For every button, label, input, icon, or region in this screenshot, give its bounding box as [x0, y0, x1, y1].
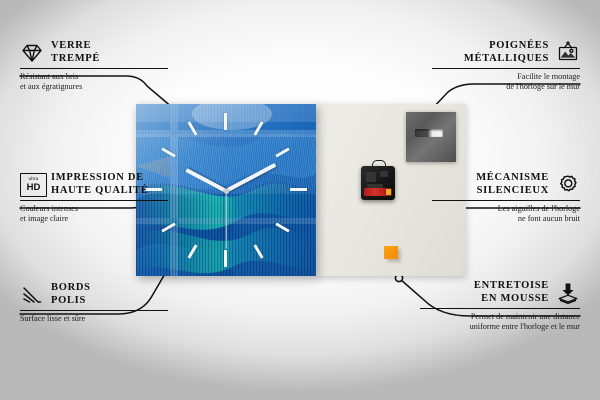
feature-subtitle: Facilite le montage de l'horloge sur le …	[432, 72, 580, 92]
clock-mechanism	[361, 166, 395, 200]
feature-subtitle: Les aiguilles de l'horloge ne font aucun…	[432, 204, 580, 224]
battery-plus-terminal	[386, 189, 391, 195]
clock-tick	[290, 188, 307, 191]
hanger-slot	[415, 129, 443, 137]
feature-divider	[432, 68, 580, 69]
feature-header: ultra HD IMPRESSION DE HAUTE QUALITÉ	[20, 172, 168, 197]
feature-subtitle: Permet de maintenir une distance uniform…	[420, 312, 580, 332]
feature-divider	[432, 200, 580, 201]
feature-title: VERRE TREMPÉ	[51, 40, 100, 65]
foam-spacer-icon	[556, 281, 580, 305]
feature-header: POIGNÉES MÉTALLIQUES	[432, 40, 580, 65]
feature-header: ENTRETOISE EN MOUSSE	[420, 280, 580, 305]
feature-header: MÉCANISME SILENCIEUX	[432, 172, 580, 197]
mechanism-detail	[380, 171, 388, 177]
feature-poignees-metalliques: POIGNÉES MÉTALLIQUES Facilite le montage…	[432, 40, 580, 92]
polished-edges-icon	[20, 283, 44, 307]
gear-icon	[556, 173, 580, 197]
clock-center-cap	[224, 189, 229, 194]
feature-divider	[20, 200, 168, 201]
feature-divider	[420, 308, 580, 309]
feature-title: IMPRESSION DE HAUTE QUALITÉ	[51, 172, 149, 197]
feature-impression-haute-qualite: ultra HD IMPRESSION DE HAUTE QUALITÉ Cou…	[20, 172, 168, 224]
feature-divider	[20, 310, 168, 311]
feature-header: VERRE TREMPÉ	[20, 40, 168, 65]
feature-title: MÉCANISME SILENCIEUX	[476, 172, 549, 197]
clock-tick	[224, 250, 227, 267]
foam-spacer	[384, 246, 398, 259]
diamond-icon	[20, 41, 44, 65]
feature-title: POIGNÉES MÉTALLIQUES	[464, 40, 549, 65]
feature-subtitle: Résistant aux bris et aux égratignures	[20, 72, 168, 92]
mechanism-hanging-loop	[372, 160, 386, 170]
feature-bords-polis: BORDS POLIS Surface lisse et sûre	[20, 282, 168, 324]
hanging-frame-icon	[556, 41, 580, 65]
clock-second-hand	[225, 191, 226, 249]
metal-hanger-plate	[406, 112, 456, 162]
feature-mecanisme-silencieux: MÉCANISME SILENCIEUX Les aiguilles de l'…	[432, 172, 580, 224]
feature-header: BORDS POLIS	[20, 282, 168, 307]
feature-title: ENTRETOISE EN MOUSSE	[474, 280, 549, 305]
feature-subtitle: Surface lisse et sûre	[20, 314, 168, 324]
feature-divider	[20, 68, 168, 69]
clock-tick	[224, 113, 227, 130]
feature-verre-trempe: VERRE TREMPÉ Résistant aux bris et aux é…	[20, 40, 168, 92]
feature-subtitle: Couleurs intenses et image claire	[20, 204, 168, 224]
battery	[364, 188, 392, 196]
feature-entretoise-en-mousse: ENTRETOISE EN MOUSSE Permet de maintenir…	[420, 280, 580, 332]
ultra-hd-icon: ultra HD	[20, 173, 44, 197]
infographic-canvas: VERRE TREMPÉ Résistant aux bris et aux é…	[0, 0, 600, 400]
mechanism-detail	[366, 172, 376, 182]
feature-title: BORDS POLIS	[51, 282, 91, 307]
product-image	[136, 104, 466, 276]
